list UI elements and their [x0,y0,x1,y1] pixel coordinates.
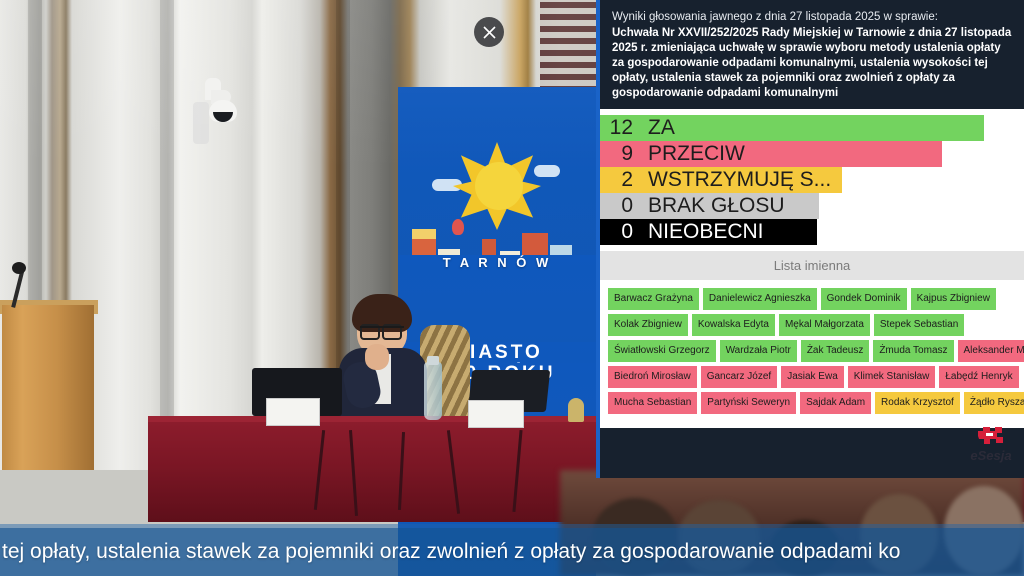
result-count-brak-glosu: 0 [600,193,640,219]
results-bars: 12 ZA 9 PRZECIW 2 WSTRZYMUJĘ S... 0 [600,109,1024,251]
desk-bell [568,398,584,422]
councillor-chip[interactable]: Wardzała Piotr [720,340,797,362]
result-label-za: ZA [640,115,675,141]
councillor-chip[interactable]: Mękal Małgorzata [779,314,870,336]
name-list-row: Światłowski GrzegorzWardzała PiotrŻak Ta… [608,340,1018,362]
councillor-chip[interactable]: Mucha Sebastian [608,392,697,414]
name-list-row: Biedroń MirosławGancarz JózefJasiak EwaK… [608,366,1018,388]
result-label-przeciw: PRZECIW [640,141,745,167]
councillor-chip[interactable]: Jasiak Ewa [781,366,844,388]
councillor-chip[interactable]: Rodak Krzysztof [875,392,960,414]
name-list-row: Barwacz GrażynaDanielewicz AgnieszkaGond… [608,288,1018,310]
councillor-chip[interactable]: Klimek Stanisław [848,366,936,388]
result-row-wstrzymuje: 2 WSTRZYMUJĘ S... [600,167,1024,193]
name-plate [266,398,320,426]
name-plate [468,400,524,428]
councillor-chip[interactable]: Kajpus Zbigniew [911,288,996,310]
result-bar-przeciw: 9 PRZECIW [600,141,942,167]
result-row-przeciw: 9 PRZECIW [600,141,1024,167]
result-label-nieobecni: NIEOBECNI [640,219,764,245]
councillor-chip[interactable]: Barwacz Grażyna [608,288,699,310]
councillor-chip[interactable]: Kolak Zbigniew [608,314,688,336]
resolution-title: Uchwała Nr XXVII/252/2025 Rady Miejskiej… [612,26,1012,101]
councillor-chip[interactable]: Stepek Sebastian [874,314,964,336]
column-shadow [160,0,174,470]
councillor-chip[interactable]: Aleksander Maciej [958,340,1024,362]
name-list-header: Lista imienna [600,251,1024,280]
screen: T A R N Ó W MIASTO TARNÓW 330 ROKU [0,0,1024,576]
speaker-person [335,300,430,428]
voting-intro-text: Wyniki głosowania jawnego z dnia 27 list… [612,10,1012,25]
result-label-brak-glosu: BRAK GŁOSU [640,193,785,219]
result-row-brak-glosu: 0 BRAK GŁOSU [600,193,1024,219]
result-count-przeciw: 9 [600,141,640,167]
result-bar-za: 12 ZA [600,115,984,141]
result-row-za: 12 ZA [600,115,1024,141]
councillor-chip[interactable]: Żmuda Tomasz [873,340,953,362]
result-bar-nieobecni: 0 NIEOBECNI [600,219,817,245]
result-bar-brak-glosu: 0 BRAK GŁOSU [600,193,819,219]
councillor-chip[interactable]: Danielewicz Agnieszka [703,288,817,310]
lectern-microphone-head [12,262,26,274]
councillor-chip[interactable]: Gondek Dominik [821,288,907,310]
councillor-chip[interactable]: Żądło Ryszard [964,392,1024,414]
result-bar-wstrzymuje: 2 WSTRZYMUJĘ S... [600,167,842,193]
lectern [2,305,94,470]
esesja-logo: eSesja [960,424,1022,472]
result-row-nieobecni: 0 NIEOBECNI [600,219,1024,245]
ptz-camera [193,78,239,130]
councillor-chip[interactable]: Światłowski Grzegorz [608,340,716,362]
close-icon [483,26,496,39]
name-list-row: Kolak ZbigniewKowalska EdytaMękal Małgor… [608,314,1018,336]
close-button[interactable] [474,17,504,47]
councillor-chip[interactable]: Sajdak Adam [800,392,871,414]
panel-header: Wyniki głosowania jawnego z dnia 27 list… [600,0,1024,109]
result-count-za: 12 [600,115,640,141]
name-list-row: Mucha SebastianPartyński SewerynSajdak A… [608,392,1018,414]
ticker-text: tej opłaty, ustalenia stawek za pojemnik… [0,540,900,564]
councillor-chip[interactable]: Partyński Seweryn [701,392,796,414]
subtitle-ticker: tej opłaty, ustalenia stawek za pojemnik… [0,528,1024,576]
result-count-wstrzymuje: 2 [600,167,640,193]
name-list: Barwacz GrażynaDanielewicz AgnieszkaGond… [600,280,1024,428]
councillor-chip[interactable]: Kowalska Edyta [692,314,775,336]
councillor-chip[interactable]: Łabędź Henryk [939,366,1018,388]
water-bottle [424,362,442,420]
councillor-chip[interactable]: Żak Tadeusz [801,340,870,362]
esesja-logo-text: eSesja [960,448,1022,463]
esesja-logo-icon [974,424,1008,450]
water-bottle-cap [427,356,439,365]
result-label-wstrzymuje: WSTRZYMUJĘ S... [640,167,831,193]
councillor-chip[interactable]: Gancarz Józef [701,366,777,388]
result-count-nieobecni: 0 [600,219,640,245]
voting-results-panel: Wyniki głosowania jawnego z dnia 27 list… [596,0,1024,478]
councillor-chip[interactable]: Biedroń Mirosław [608,366,697,388]
